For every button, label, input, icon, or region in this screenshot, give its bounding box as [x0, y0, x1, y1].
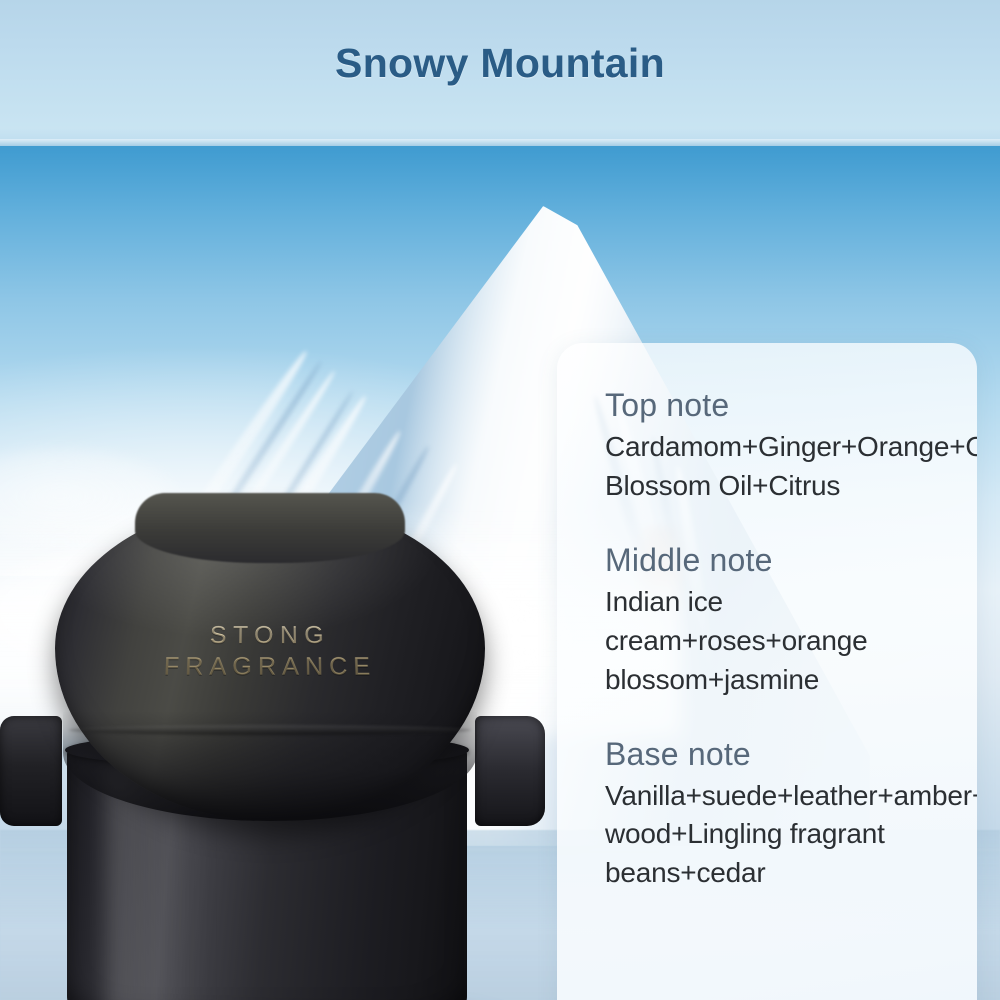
- lid-seam: [69, 725, 471, 735]
- lid-top-face: [135, 493, 405, 563]
- note-group-top: Top note Cardamom+Ginger+Orange+Orange B…: [605, 387, 961, 506]
- lid-tab-right: [475, 716, 545, 826]
- note-group-base: Base note Vanilla+suede+leather+amber+fr…: [605, 736, 961, 894]
- note-body-base: Vanilla+suede+leather+amber+fried wood+L…: [605, 777, 965, 894]
- fragrance-notes-panel: Top note Cardamom+Ginger+Orange+Orange B…: [557, 343, 977, 1000]
- brand-emboss-line1: STONG: [55, 620, 485, 651]
- brand-emboss: STONG FRAGRANCE: [52, 620, 488, 683]
- lid-tab-left: [0, 716, 62, 826]
- product-jar: STONG FRAGRANCE: [55, 501, 545, 1000]
- note-body-top: Cardamom+Ginger+Orange+Orange Blossom Oi…: [605, 428, 965, 506]
- note-body-middle: Indian ice cream+roses+orange blossom+ja…: [605, 583, 965, 700]
- scene-background: STONG FRAGRANCE Top note Cardamom+Ginger…: [0, 146, 1000, 1000]
- page-title: Snowy Mountain: [0, 40, 1000, 87]
- brand-emboss-line2: FRAGRANCE: [52, 651, 488, 683]
- jar-lid: STONG FRAGRANCE: [55, 501, 485, 821]
- note-title-middle: Middle note: [605, 542, 961, 579]
- product-image-canvas: Snowy Mountain: [0, 0, 1000, 1000]
- note-title-top: Top note: [605, 387, 961, 424]
- note-title-base: Base note: [605, 736, 961, 773]
- header-band: Snowy Mountain: [0, 0, 1000, 146]
- note-group-middle: Middle note Indian ice cream+roses+orang…: [605, 542, 961, 700]
